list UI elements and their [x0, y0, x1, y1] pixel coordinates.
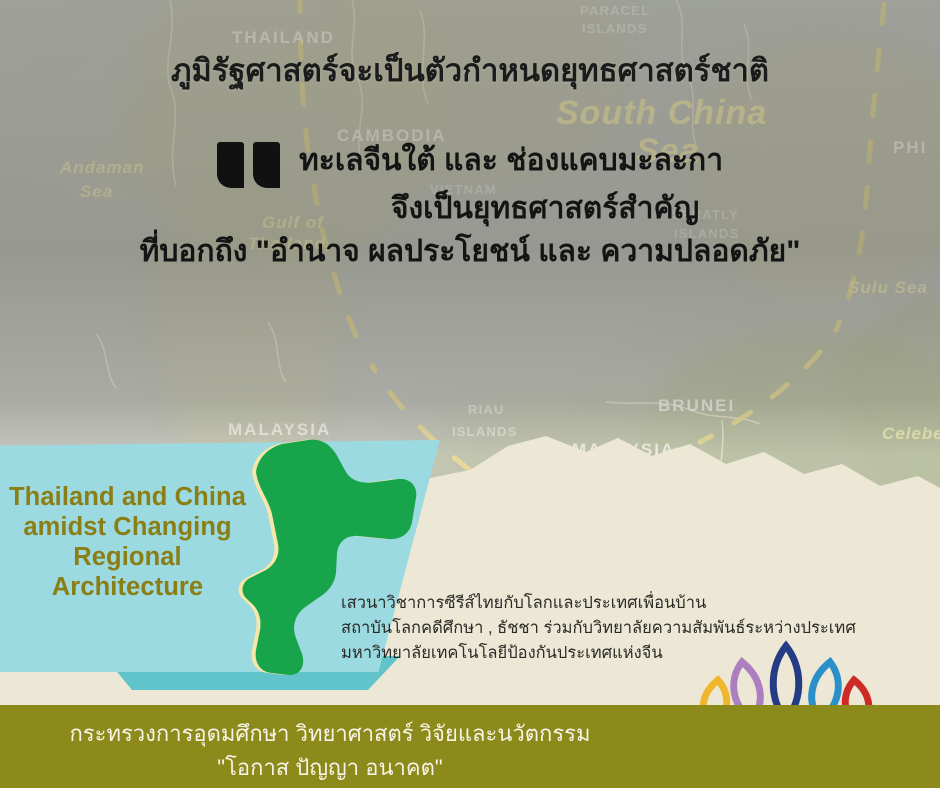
- poster-canvas: THAILAND CAMBODIA PARACEL ISLANDS South …: [0, 0, 940, 788]
- footer-line-1: กระทรวงการอุดมศึกษา วิทยาศาสตร์ วิจัยและ…: [0, 716, 660, 751]
- event-details-line-2: สถาบันโลกคดีศึกษา , ธัชชา ร่วมกับวิทยาลั…: [341, 616, 856, 641]
- event-title: Thailand and China amidst Changing Regio…: [0, 482, 255, 602]
- quote-mark-icon: [217, 142, 283, 188]
- footer-bar: กระทรวงการอุดมศึกษา วิทยาศาสตร์ วิจัยและ…: [0, 705, 940, 788]
- event-title-line-4: Architecture: [0, 572, 255, 602]
- quote-line-1: ทะเลจีนใต้ และ ช่องแคบมะละกา: [299, 140, 723, 183]
- event-title-line-1: Thailand and China: [0, 482, 255, 512]
- quote-block: ทะเลจีนใต้ และ ช่องแคบมะละกา จึงเป็นยุทธ…: [0, 140, 940, 273]
- quote-line-2: จึงเป็นยุทธศาสตร์สำคัญ: [391, 188, 699, 231]
- event-title-line-2: amidst Changing: [0, 512, 255, 542]
- page-title: ภูมิรัฐศาสตร์จะเป็นตัวกำหนดยุทธศาสตร์ชาต…: [0, 52, 940, 91]
- event-title-line-3: Regional: [0, 542, 255, 572]
- event-details-line-1: เสวนาวิชาการซีรีส์ไทยกับโลกและประเทศเพื่…: [341, 591, 856, 616]
- quote-line-3: ที่บอกถึง "อำนาจ ผลประโยชน์ และ ความปลอด…: [140, 231, 801, 274]
- footer-line-2: "โอกาส ปัญญา อนาคต": [0, 750, 660, 785]
